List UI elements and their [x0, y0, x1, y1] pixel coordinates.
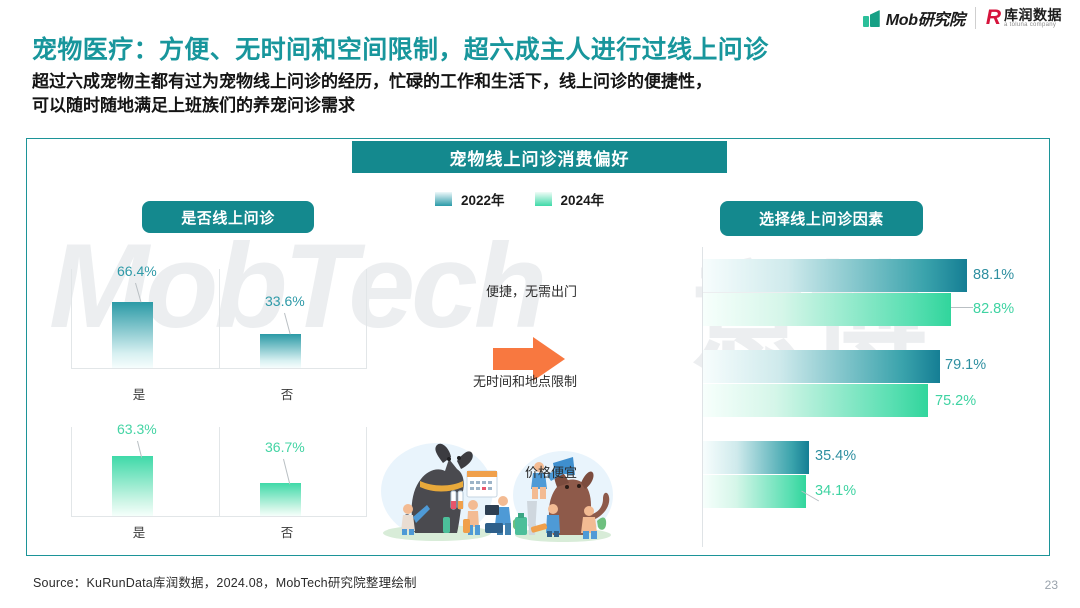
- hbar-2022-notime: [703, 350, 940, 383]
- left-chart-title-label: 是否线上问诊: [181, 207, 275, 228]
- legend-swatch-2024-icon: [535, 192, 552, 206]
- mob-logo-text: Mob研究院: [886, 6, 965, 30]
- hbar-label-2022-convenient: 88.1%: [973, 267, 1014, 283]
- bar-2024-no: [260, 483, 301, 516]
- hbar-label-2022-cheap: 35.4%: [815, 448, 856, 464]
- bar-label-2024-yes: 63.3%: [117, 421, 157, 437]
- left-chart-2022: 66.4% 33.6%: [71, 269, 367, 369]
- bar-label-2022-yes: 66.4%: [117, 263, 157, 279]
- left-chart-2024-xcat-yes: 是: [65, 522, 213, 541]
- logo-row: Mob研究院 R 库润数据 a toluna company: [862, 6, 1062, 30]
- bar-2022-no: [260, 334, 301, 368]
- mob-research-logo: Mob研究院: [862, 6, 965, 30]
- source-note: Source：KuRunData库润数据，2024.08，MobTech研究院整…: [33, 572, 417, 591]
- left-chart-title-pill: 是否线上问诊: [142, 201, 314, 233]
- mob-mark-icon: [862, 8, 882, 28]
- content-card: MobTech 意博 宠物线上问诊消费偏好 2022年 2024年 是否线上问诊…: [26, 138, 1050, 556]
- bar-label-2022-no: 33.6%: [265, 293, 305, 309]
- leader-line: [283, 459, 290, 484]
- legend-swatch-2022-icon: [435, 192, 452, 206]
- right-chart: 88.1% 82.8% 便捷，无需出门 79.1% 75.2% 无时间和地点限制…: [595, 247, 1035, 547]
- hbar-2024-convenient: [703, 293, 951, 326]
- page-subtitle: 超过六成宠物主都有过为宠物线上问诊的经历，忙碌的工作和生活下，线上问诊的便捷性，…: [32, 70, 962, 118]
- hbar-label-2024-cheap: 34.1%: [815, 483, 856, 499]
- bar-label-2024-no: 36.7%: [265, 439, 305, 455]
- kurundata-logo: R 库润数据 a toluna company: [986, 6, 1062, 30]
- kr-logo-en: a toluna company: [1004, 22, 1062, 28]
- legend-item-2022: 2022年: [435, 189, 505, 209]
- legend-label-2022: 2022年: [461, 189, 505, 209]
- chart-legend: 2022年 2024年: [435, 189, 604, 209]
- chart-banner-label: 宠物线上问诊消费偏好: [450, 145, 630, 170]
- ycat-notime: 无时间和地点限制: [473, 371, 577, 390]
- left-chart-2024: 63.3% 36.7%: [71, 427, 367, 517]
- hbar-label-2022-notime: 79.1%: [945, 357, 986, 373]
- page-title: 宠物医疗：方便、无时间和空间限制，超六成主人进行过线上问诊: [32, 30, 992, 66]
- logo-divider: [975, 7, 976, 29]
- hbar-2024-cheap: [703, 475, 806, 508]
- right-chart-title-pill: 选择线上问诊因素: [720, 201, 923, 236]
- legend-label-2024: 2024年: [561, 189, 605, 209]
- subtitle-line-2: 可以随时随地满足上班族们的养宠问诊需求: [32, 94, 962, 118]
- bar-2024-yes: [112, 456, 153, 516]
- kr-logo-cn: 库润数据: [1004, 8, 1062, 23]
- slide: Mob研究院 R 库润数据 a toluna company 宠物医疗：方便、无…: [0, 0, 1080, 608]
- subtitle-line-1: 超过六成宠物主都有过为宠物线上问诊的经历，忙碌的工作和生活下，线上问诊的便捷性，: [32, 70, 962, 94]
- hbar-label-2024-notime: 75.2%: [935, 393, 976, 409]
- pets-illustration: [375, 429, 623, 549]
- kr-mark-icon: R: [986, 6, 999, 30]
- leader-line: [135, 283, 141, 303]
- hbar-2024-notime: [703, 384, 928, 417]
- bar-2022-yes: [112, 302, 153, 368]
- right-chart-title-label: 选择线上问诊因素: [759, 208, 884, 229]
- left-chart-2022-xcat-yes: 是: [65, 384, 213, 403]
- chart-banner: 宠物线上问诊消费偏好: [352, 141, 727, 173]
- hbar-label-2024-convenient: 82.8%: [973, 301, 1014, 317]
- leader-line: [284, 313, 291, 335]
- hbar-2022-convenient: [703, 259, 967, 292]
- left-chart-2024-xcat-no: 否: [213, 522, 361, 541]
- page-number: 23: [1045, 578, 1058, 592]
- left-chart-2022-xcat-no: 否: [213, 384, 361, 403]
- leader-line: [951, 307, 973, 308]
- ycat-cheap: 价格便宜: [525, 462, 577, 481]
- hbar-2022-cheap: [703, 441, 809, 474]
- legend-item-2024: 2024年: [535, 189, 605, 209]
- ycat-convenient: 便捷，无需出门: [486, 281, 577, 300]
